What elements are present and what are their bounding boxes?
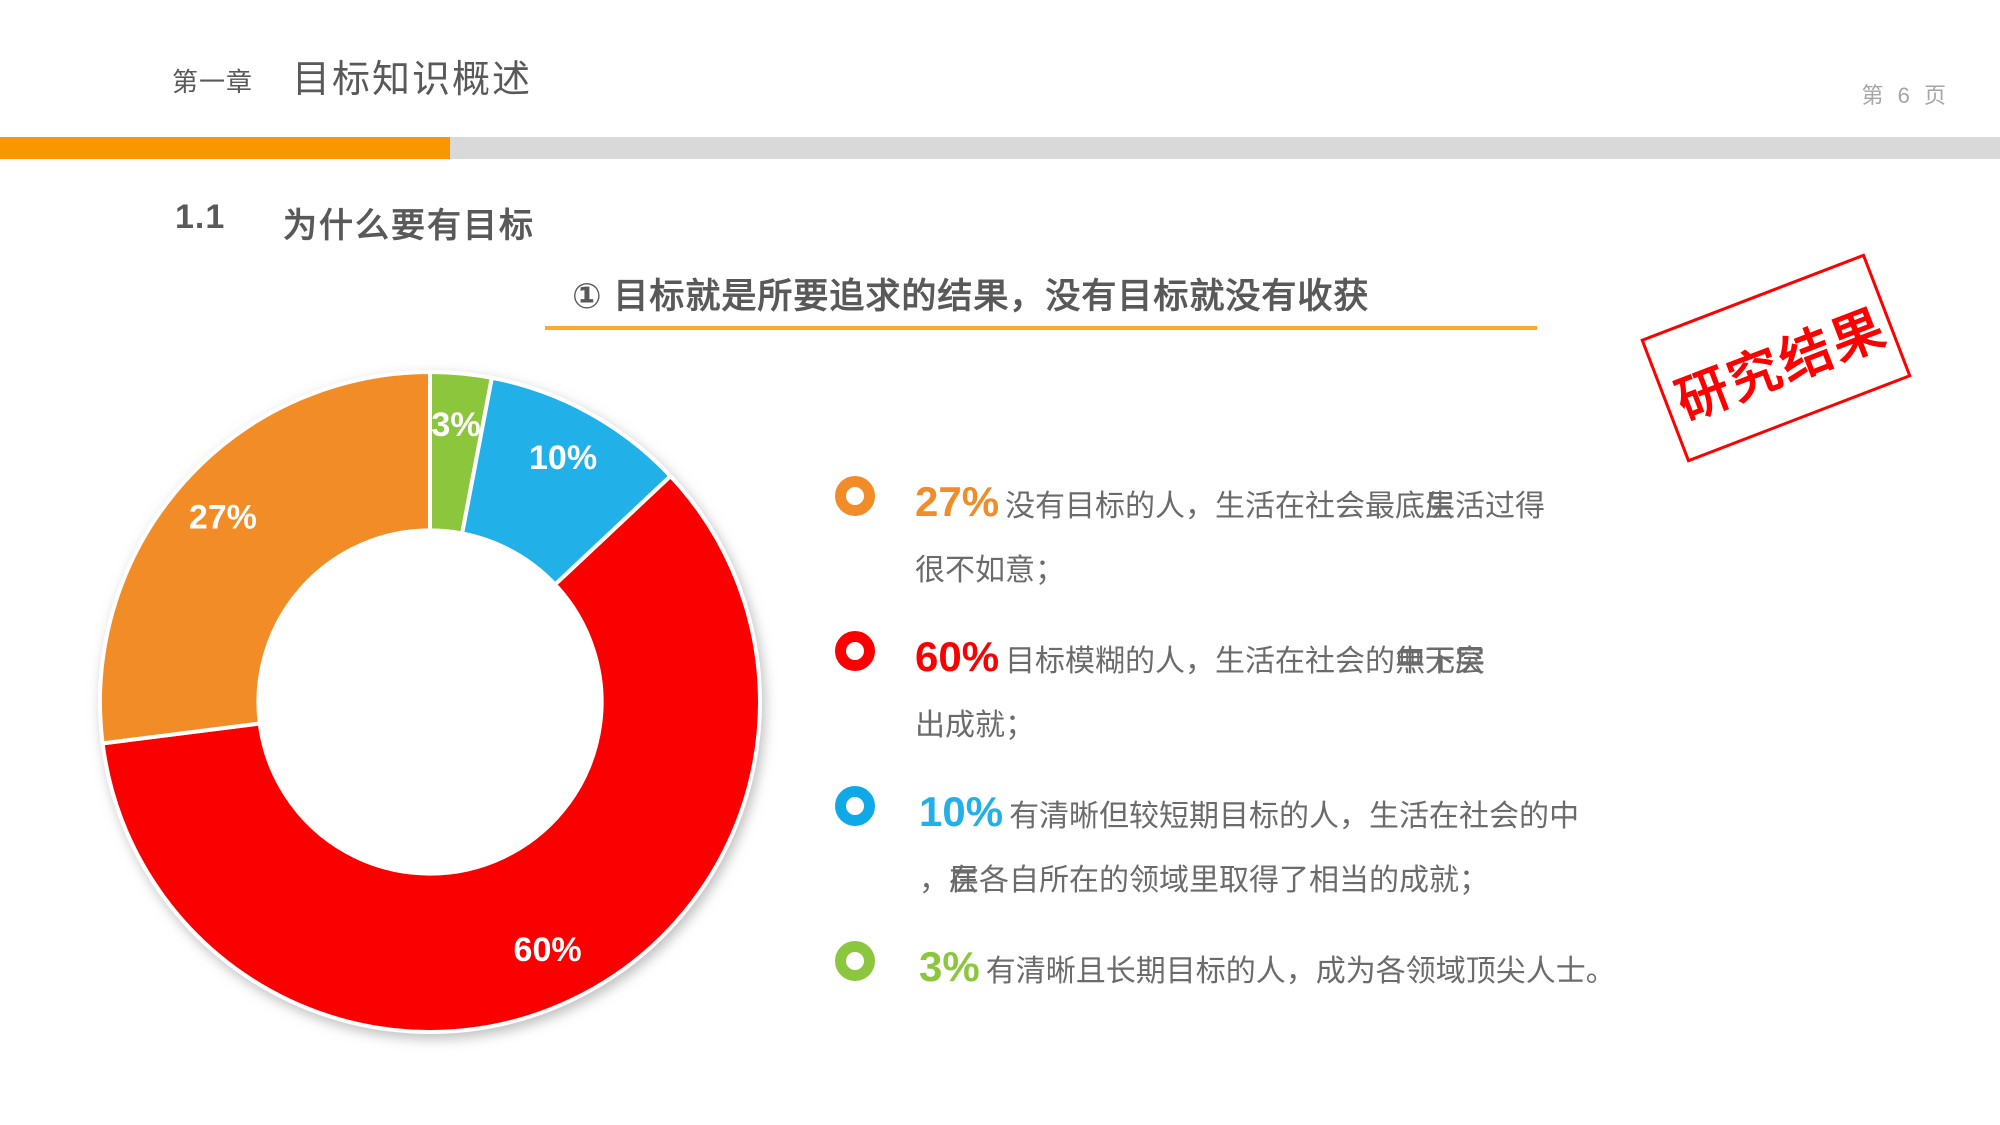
list-item[interactable]: 60%目标模糊的人，生活在社会的中下层無无突 出成就； — [835, 625, 1945, 758]
legend-description-line1b: 生活过得 — [1425, 490, 1545, 523]
donut-slice-label: 27% — [189, 498, 257, 536]
legend-description-line1b: 無无突 — [1395, 645, 1485, 678]
donut-slice-group — [100, 372, 760, 1032]
legend-percent: 3% — [919, 943, 980, 990]
donut-chart-svg: 3%10%60%27% — [80, 352, 780, 1052]
legend-percent: 27% — [915, 478, 999, 525]
stamp-label: 研究结果 — [1644, 255, 1915, 464]
section-number: 1.1 — [175, 198, 225, 237]
legend-ring-icon-orange — [835, 476, 875, 516]
legend-description-line2: 很不如意； — [915, 554, 1065, 587]
slide-header: 第一章 目标知识概述 第 6 页 — [0, 0, 2000, 155]
donut-chart: 3%10%60%27% — [80, 352, 780, 1052]
subtitle-heading: ① 目标就是所要追求的结果，没有目标就没有收获 — [572, 268, 1369, 319]
header-chapter-label: 第一章 — [172, 62, 253, 99]
legend-ring-icon-blue — [835, 786, 875, 826]
legend-description-line2b: 在各自所在的领域里取得了相当的成就； — [949, 864, 1489, 897]
legend-description-line1a: 有清晰且长期目标的人，成为各领域顶尖人士。 — [986, 955, 1616, 988]
legend-list: 27%没有目标的人，生活在社会最底层生活过得 很不如意； 60%目标模糊的人，生… — [835, 470, 1945, 1053]
legend-item-text: 27%没有目标的人，生活在社会最底层生活过得 很不如意； — [915, 470, 1945, 603]
legend-description-line2a: ， — [919, 864, 949, 897]
page-number-indicator: 第 6 页 — [1862, 78, 1950, 110]
legend-item-text: 3%有清晰且长期目标的人，成为各领域顶尖人士。 — [919, 935, 1945, 1004]
research-result-stamp: 研究结果 — [1640, 253, 1911, 462]
legend-percent: 60% — [915, 633, 999, 680]
legend-description-line1a: 有清晰但较短期目标的人，生活在社会的 — [1009, 800, 1549, 833]
page-title: 目标知识概述 — [292, 48, 532, 103]
legend-ring-icon-red — [835, 631, 875, 671]
list-item[interactable]: 10%有清晰但较短期目标的人，生活在社会的中 ，层在各自所在的领域里取得了相当的… — [835, 780, 1945, 913]
donut-slice-label: 60% — [514, 931, 582, 969]
legend-description-line1a: 没有目标的人，生活在社会最底 — [1005, 490, 1425, 523]
legend-description-line2: 出成就； — [915, 709, 1035, 742]
legend-ring-icon-green — [835, 941, 875, 981]
legend-percent: 10% — [919, 788, 1003, 835]
legend-description-line1b: 中 — [1549, 800, 1579, 833]
header-rule-accent — [0, 137, 450, 159]
donut-slice-label: 3% — [431, 406, 480, 444]
list-item[interactable]: 27%没有目标的人，生活在社会最底层生活过得 很不如意； — [835, 470, 1945, 603]
section-title: 为什么要有目标 — [283, 198, 535, 247]
donut-slice-label: 10% — [529, 439, 597, 477]
subtitle-underline — [545, 326, 1537, 330]
legend-item-text: 10%有清晰但较短期目标的人，生活在社会的中 ，层在各自所在的领域里取得了相当的… — [919, 780, 1945, 913]
legend-description-line1a: 目标模糊的人，生活在社会的 — [1005, 645, 1395, 678]
legend-item-text: 60%目标模糊的人，生活在社会的中下层無无突 出成就； — [915, 625, 1945, 758]
list-item[interactable]: 3%有清晰且长期目标的人，成为各领域顶尖人士。 — [835, 935, 1945, 1031]
